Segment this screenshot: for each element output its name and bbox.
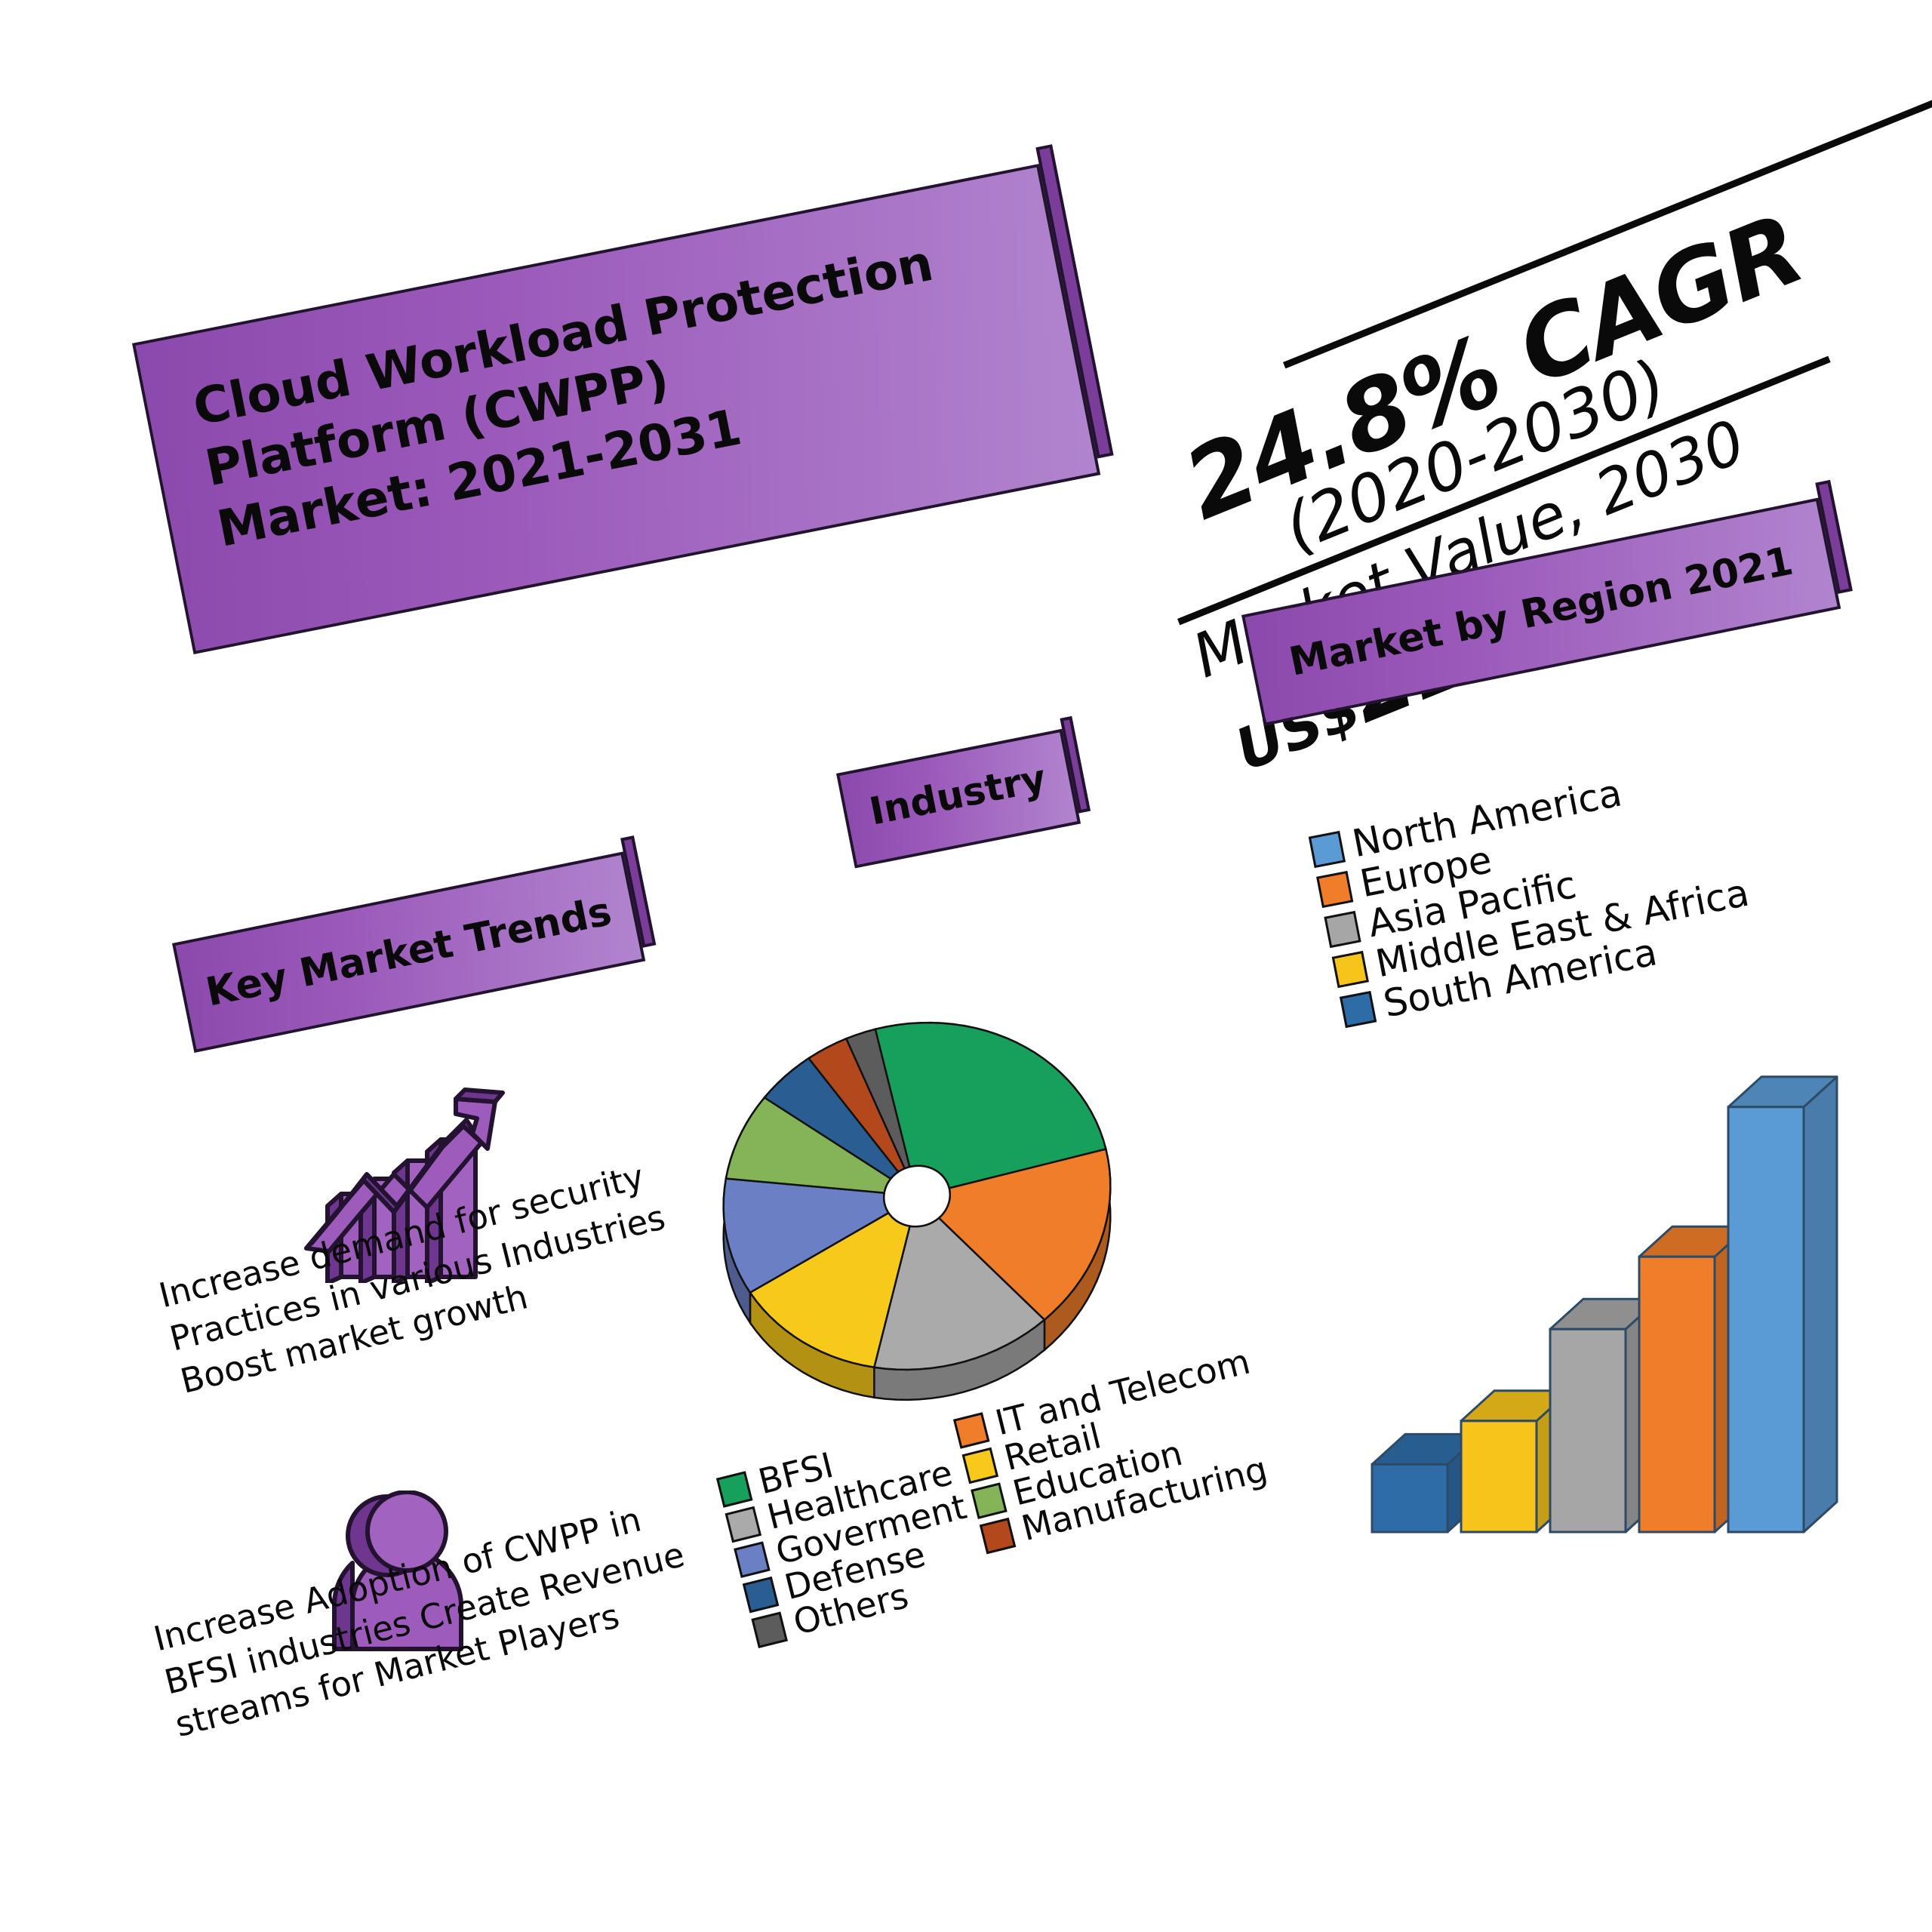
page-title: Cloud Workload Protection Platform (CWPP… — [188, 232, 961, 560]
industry-section-plaque: Industry — [836, 729, 1081, 869]
bar-south-america[interactable] — [1372, 1464, 1447, 1532]
main-title-plaque: Cloud Workload Protection Platform (CWPP… — [132, 164, 1100, 654]
trends-section-label: Key Market Trends — [202, 889, 615, 1016]
legend-swatch-icon — [953, 1412, 989, 1448]
plaque-face: Cloud Workload Protection Platform (CWPP… — [132, 164, 1100, 654]
legend-swatch-icon — [734, 1541, 770, 1577]
bar-asia-pacific[interactable] — [1550, 1329, 1626, 1532]
cagr-value: 24.8% CAGR — [1170, 193, 1817, 542]
plaque-face: Industry — [836, 729, 1081, 869]
legend-swatch-icon — [962, 1447, 998, 1484]
legend-swatch-icon — [971, 1482, 1007, 1518]
legend-swatch-icon — [716, 1471, 752, 1507]
legend-swatch-icon — [1316, 871, 1353, 908]
plaque-face: Key Market Trends — [172, 851, 645, 1053]
legend-swatch-icon — [980, 1518, 1016, 1554]
bar-north-america[interactable] — [1728, 1107, 1804, 1532]
region-legend: North AmericaEuropeAsia PacificMiddle Ea… — [1308, 753, 1761, 1034]
legend-swatch-icon — [1332, 951, 1369, 988]
legend-swatch-icon — [743, 1577, 779, 1613]
industry-section-label: Industry — [866, 756, 1049, 834]
legend-swatch-icon — [751, 1612, 787, 1648]
pie-legend-left: BFSIHealthcareGovermentDefenseOthers — [715, 1419, 988, 1651]
legend-swatch-icon — [725, 1506, 761, 1543]
infographic-canvas: 24.8% CAGR (2020-2030) Market Value, 203… — [0, 0, 1932, 1932]
trends-section-plaque: Key Market Trends — [172, 851, 645, 1053]
bar-north-america-side — [1804, 1077, 1837, 1532]
legend-swatch-icon — [1324, 911, 1361, 948]
legend-swatch-icon — [1309, 831, 1346, 868]
region-bar-chart — [1351, 1004, 1879, 1600]
bar-middle-east-africa[interactable] — [1461, 1421, 1537, 1532]
headline-stats: 24.8% CAGR (2020-2030) Market Value, 203… — [1162, 136, 1932, 558]
industry-pie-chart — [706, 1004, 1128, 1426]
bar-europe[interactable] — [1639, 1257, 1715, 1532]
